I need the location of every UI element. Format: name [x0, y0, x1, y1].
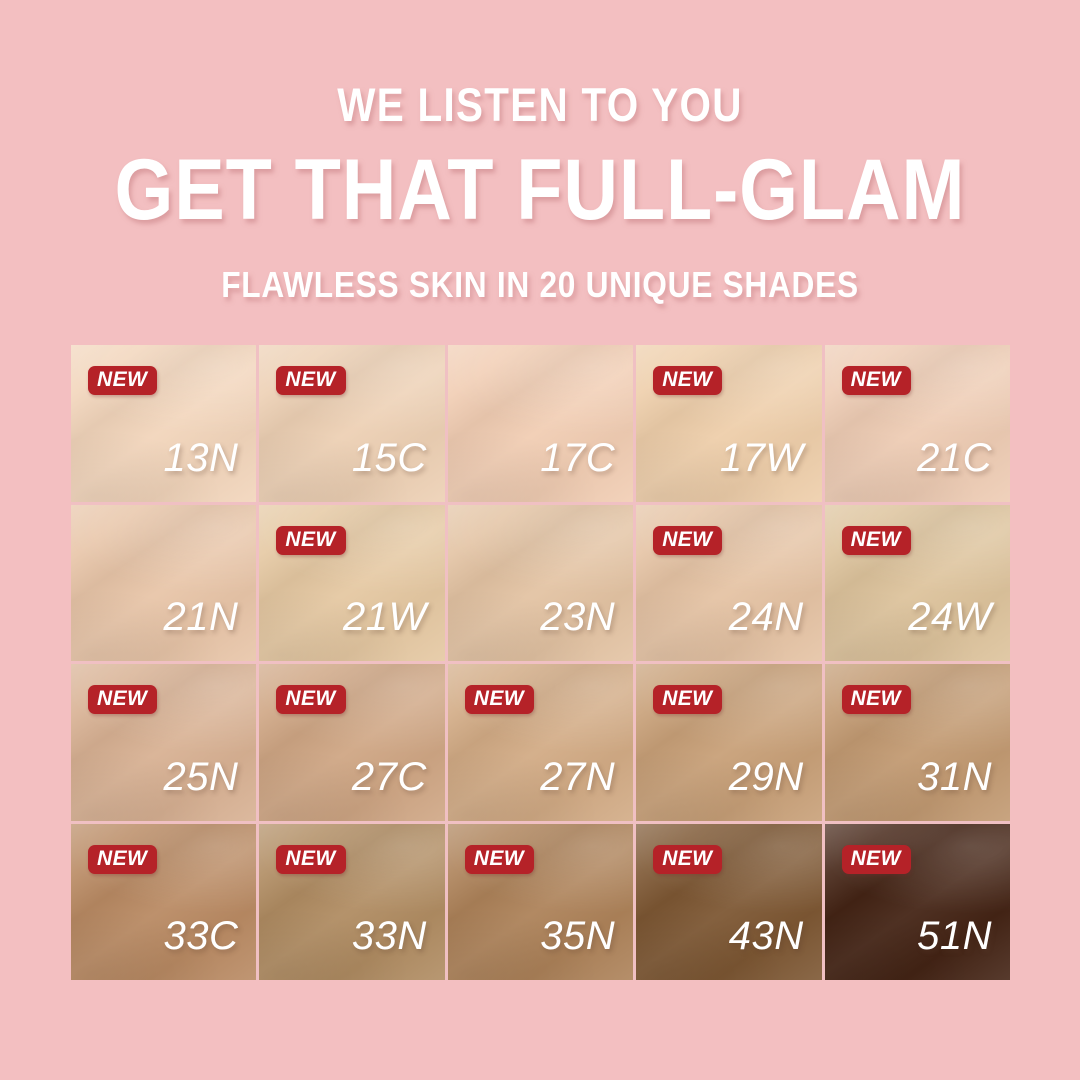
new-badge: NEW	[842, 526, 911, 555]
shade-code-label: 24N	[729, 596, 804, 638]
shade-swatch[interactable]: NEW31N	[825, 664, 1010, 821]
shade-code-label: 33C	[164, 915, 239, 957]
shade-swatch[interactable]: NEW29N	[636, 664, 821, 821]
shade-code-label: 21W	[343, 596, 427, 638]
shade-code-label: 17W	[720, 437, 804, 479]
page-title: GET THAT FULL-GLAM	[65, 138, 1015, 242]
shade-swatch[interactable]: NEW27N	[448, 664, 633, 821]
shade-swatch[interactable]: NEW33C	[71, 824, 256, 981]
kicker-text: WE LISTEN TO YOU	[76, 78, 1005, 132]
shade-code-label: 17C	[540, 437, 615, 479]
shade-swatch[interactable]: NEW17W	[636, 345, 821, 502]
shade-code-label: 29N	[729, 756, 804, 798]
new-badge: NEW	[88, 366, 157, 395]
shade-code-label: 33N	[352, 915, 427, 957]
new-badge: NEW	[842, 366, 911, 395]
shade-swatch[interactable]: NEW35N	[448, 824, 633, 981]
shade-swatch[interactable]: NEW25N	[71, 664, 256, 821]
new-badge: NEW	[842, 845, 911, 874]
new-badge: NEW	[276, 526, 345, 555]
new-badge: NEW	[653, 526, 722, 555]
shade-swatch[interactable]: NEW21N	[71, 505, 256, 662]
shade-code-label: 35N	[540, 915, 615, 957]
shade-code-label: 31N	[917, 756, 992, 798]
new-badge: NEW	[276, 845, 345, 874]
shade-swatch[interactable]: NEW24N	[636, 505, 821, 662]
shade-code-label: 27N	[540, 756, 615, 798]
new-badge: NEW	[653, 366, 722, 395]
shade-code-label: 15C	[352, 437, 427, 479]
shade-swatch[interactable]: NEW51N	[825, 824, 1010, 981]
shade-code-label: 51N	[917, 915, 992, 957]
shade-code-label: 27C	[352, 756, 427, 798]
shade-code-label: 24W	[908, 596, 992, 638]
shade-swatch[interactable]: NEW27C	[259, 664, 444, 821]
subtitle-text: FLAWLESS SKIN IN 20 UNIQUE SHADES	[65, 264, 1015, 306]
shade-range-poster: WE LISTEN TO YOU GET THAT FULL-GLAM FLAW…	[0, 0, 1080, 1080]
new-badge: NEW	[276, 685, 345, 714]
shade-swatch[interactable]: NEW15C	[259, 345, 444, 502]
new-badge: NEW	[465, 685, 534, 714]
new-badge: NEW	[653, 845, 722, 874]
new-badge: NEW	[842, 685, 911, 714]
shade-code-label: 13N	[164, 437, 239, 479]
shade-code-label: 21N	[164, 596, 239, 638]
new-badge: NEW	[88, 845, 157, 874]
new-badge: NEW	[653, 685, 722, 714]
shade-swatch[interactable]: NEW21W	[259, 505, 444, 662]
new-badge: NEW	[88, 685, 157, 714]
shade-swatch-grid: NEW13NNEW15CNEW17CNEW17WNEW21CNEW21NNEW2…	[71, 345, 1010, 980]
headline-block: WE LISTEN TO YOU GET THAT FULL-GLAM FLAW…	[0, 78, 1080, 306]
shade-swatch[interactable]: NEW21C	[825, 345, 1010, 502]
shade-swatch[interactable]: NEW24W	[825, 505, 1010, 662]
shade-swatch[interactable]: NEW33N	[259, 824, 444, 981]
shade-swatch[interactable]: NEW17C	[448, 345, 633, 502]
shade-swatch[interactable]: NEW43N	[636, 824, 821, 981]
shade-code-label: 23N	[540, 596, 615, 638]
new-badge: NEW	[276, 366, 345, 395]
new-badge: NEW	[465, 845, 534, 874]
shade-code-label: 21C	[917, 437, 992, 479]
shade-code-label: 25N	[164, 756, 239, 798]
shade-code-label: 43N	[729, 915, 804, 957]
shade-swatch[interactable]: NEW23N	[448, 505, 633, 662]
shade-swatch[interactable]: NEW13N	[71, 345, 256, 502]
